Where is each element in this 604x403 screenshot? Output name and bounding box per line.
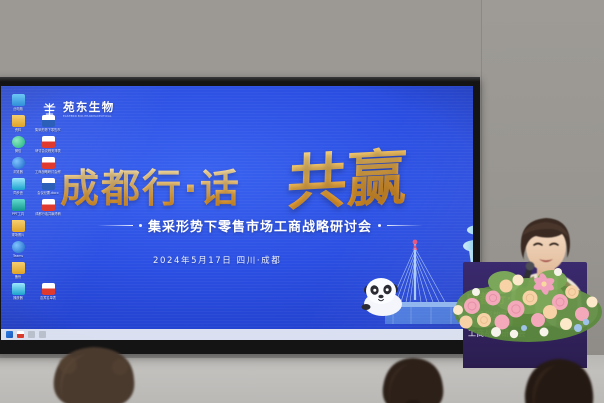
start-button-icon[interactable] bbox=[6, 331, 13, 338]
subtitle-dot-left bbox=[139, 224, 142, 227]
desktop-icon-label: 备份 bbox=[5, 275, 31, 279]
desktop-icon[interactable]: 此电脑 bbox=[5, 94, 31, 111]
taskbar-app-icon-gray-2[interactable] bbox=[39, 331, 46, 338]
desktop-icon-label: 现场照片 bbox=[5, 233, 31, 237]
teal-app-icon bbox=[12, 199, 25, 211]
conference-photo-scene: 此电脑 资料 集采形势下零售市场… 微信 bbox=[0, 0, 604, 403]
subtitle-dot-right bbox=[378, 224, 381, 227]
desktop-icon-label: PPT工具 bbox=[5, 212, 31, 216]
desktop-icon[interactable]: Teams bbox=[5, 241, 31, 258]
yuandong-logo-icon bbox=[41, 102, 58, 119]
logo-company-name-cn: 苑东生物 bbox=[63, 102, 115, 114]
audience-head-right bbox=[520, 353, 598, 403]
slide-title-primary: 成都行·话 bbox=[60, 158, 241, 214]
desktop-icon-label: 浏览器 bbox=[5, 170, 31, 174]
slide-date-location: 2024年5月17日 四川·成都 bbox=[153, 254, 281, 266]
blue-app-icon bbox=[12, 241, 25, 253]
windows-taskbar[interactable] bbox=[1, 329, 473, 340]
desktop-icon[interactable]: 播放器 bbox=[5, 283, 31, 300]
audience-head-center bbox=[378, 355, 448, 403]
giant-panda-illustration bbox=[361, 274, 405, 316]
desktop-icon-label: 资料 bbox=[5, 128, 31, 132]
subtitle-rule-left bbox=[97, 225, 133, 226]
desktop-icon[interactable]: 同步盘 bbox=[5, 178, 31, 195]
desktop-icon-label: 此电脑 bbox=[5, 107, 31, 111]
subtitle-rule-right bbox=[387, 225, 423, 226]
wall-display-bezel: 此电脑 资料 集采形势下零售市场… 微信 bbox=[0, 77, 480, 354]
desktop-icon[interactable]: PPT工具 bbox=[5, 199, 31, 216]
audience-head-left bbox=[48, 343, 140, 403]
slide-subtitle-row: 集采形势下零售市场工商战略研讨会 bbox=[97, 216, 423, 235]
desktop-icon-label: 同步盘 bbox=[5, 191, 31, 195]
slide-logo: 苑东生物 EASTERN BIO-PHARMACEUTICAL bbox=[41, 102, 115, 119]
folder-icon-2 bbox=[12, 220, 25, 232]
green-app-icon bbox=[12, 136, 25, 148]
presentation-slide: 苑东生物 EASTERN BIO-PHARMACEUTICAL bbox=[35, 92, 473, 328]
slide-subtitle: 集采形势下零售市场工商战略研讨会 bbox=[148, 216, 372, 235]
computer-icon bbox=[12, 94, 25, 106]
desktop-icon-label: 播放器 bbox=[5, 296, 31, 300]
folder-icon-3 bbox=[12, 262, 25, 274]
video-app-icon bbox=[12, 283, 25, 295]
wall-display-screen[interactable]: 此电脑 资料 集采形势下零售市场… 微信 bbox=[1, 86, 473, 340]
folder-icon bbox=[12, 115, 25, 127]
desktop-icon[interactable]: 浏览器 bbox=[5, 157, 31, 174]
desktop-icon[interactable]: 备份 bbox=[5, 262, 31, 279]
logo-company-name-en: EASTERN BIO-PHARMACEUTICAL bbox=[63, 116, 115, 119]
slide-title-accent: 共赢 bbox=[286, 129, 409, 223]
desktop-icon[interactable]: 现场照片 bbox=[5, 220, 31, 237]
taskbar-app-icon-gray[interactable] bbox=[28, 331, 35, 338]
desktop-icon[interactable]: 资料 bbox=[5, 115, 31, 132]
desktop-icon-label: Teams bbox=[5, 254, 31, 258]
browser-icon bbox=[12, 157, 25, 169]
bezel-highlight bbox=[0, 77, 480, 82]
cloud-app-icon bbox=[12, 178, 25, 190]
desktop-icon-label: 微信 bbox=[5, 149, 31, 153]
logo-text-block: 苑东生物 EASTERN BIO-PHARMACEUTICAL bbox=[63, 102, 115, 118]
floral-arrangement bbox=[452, 262, 604, 348]
taskbar-app-icon-red[interactable] bbox=[17, 331, 24, 338]
desktop-icon[interactable]: 微信 bbox=[5, 136, 31, 153]
